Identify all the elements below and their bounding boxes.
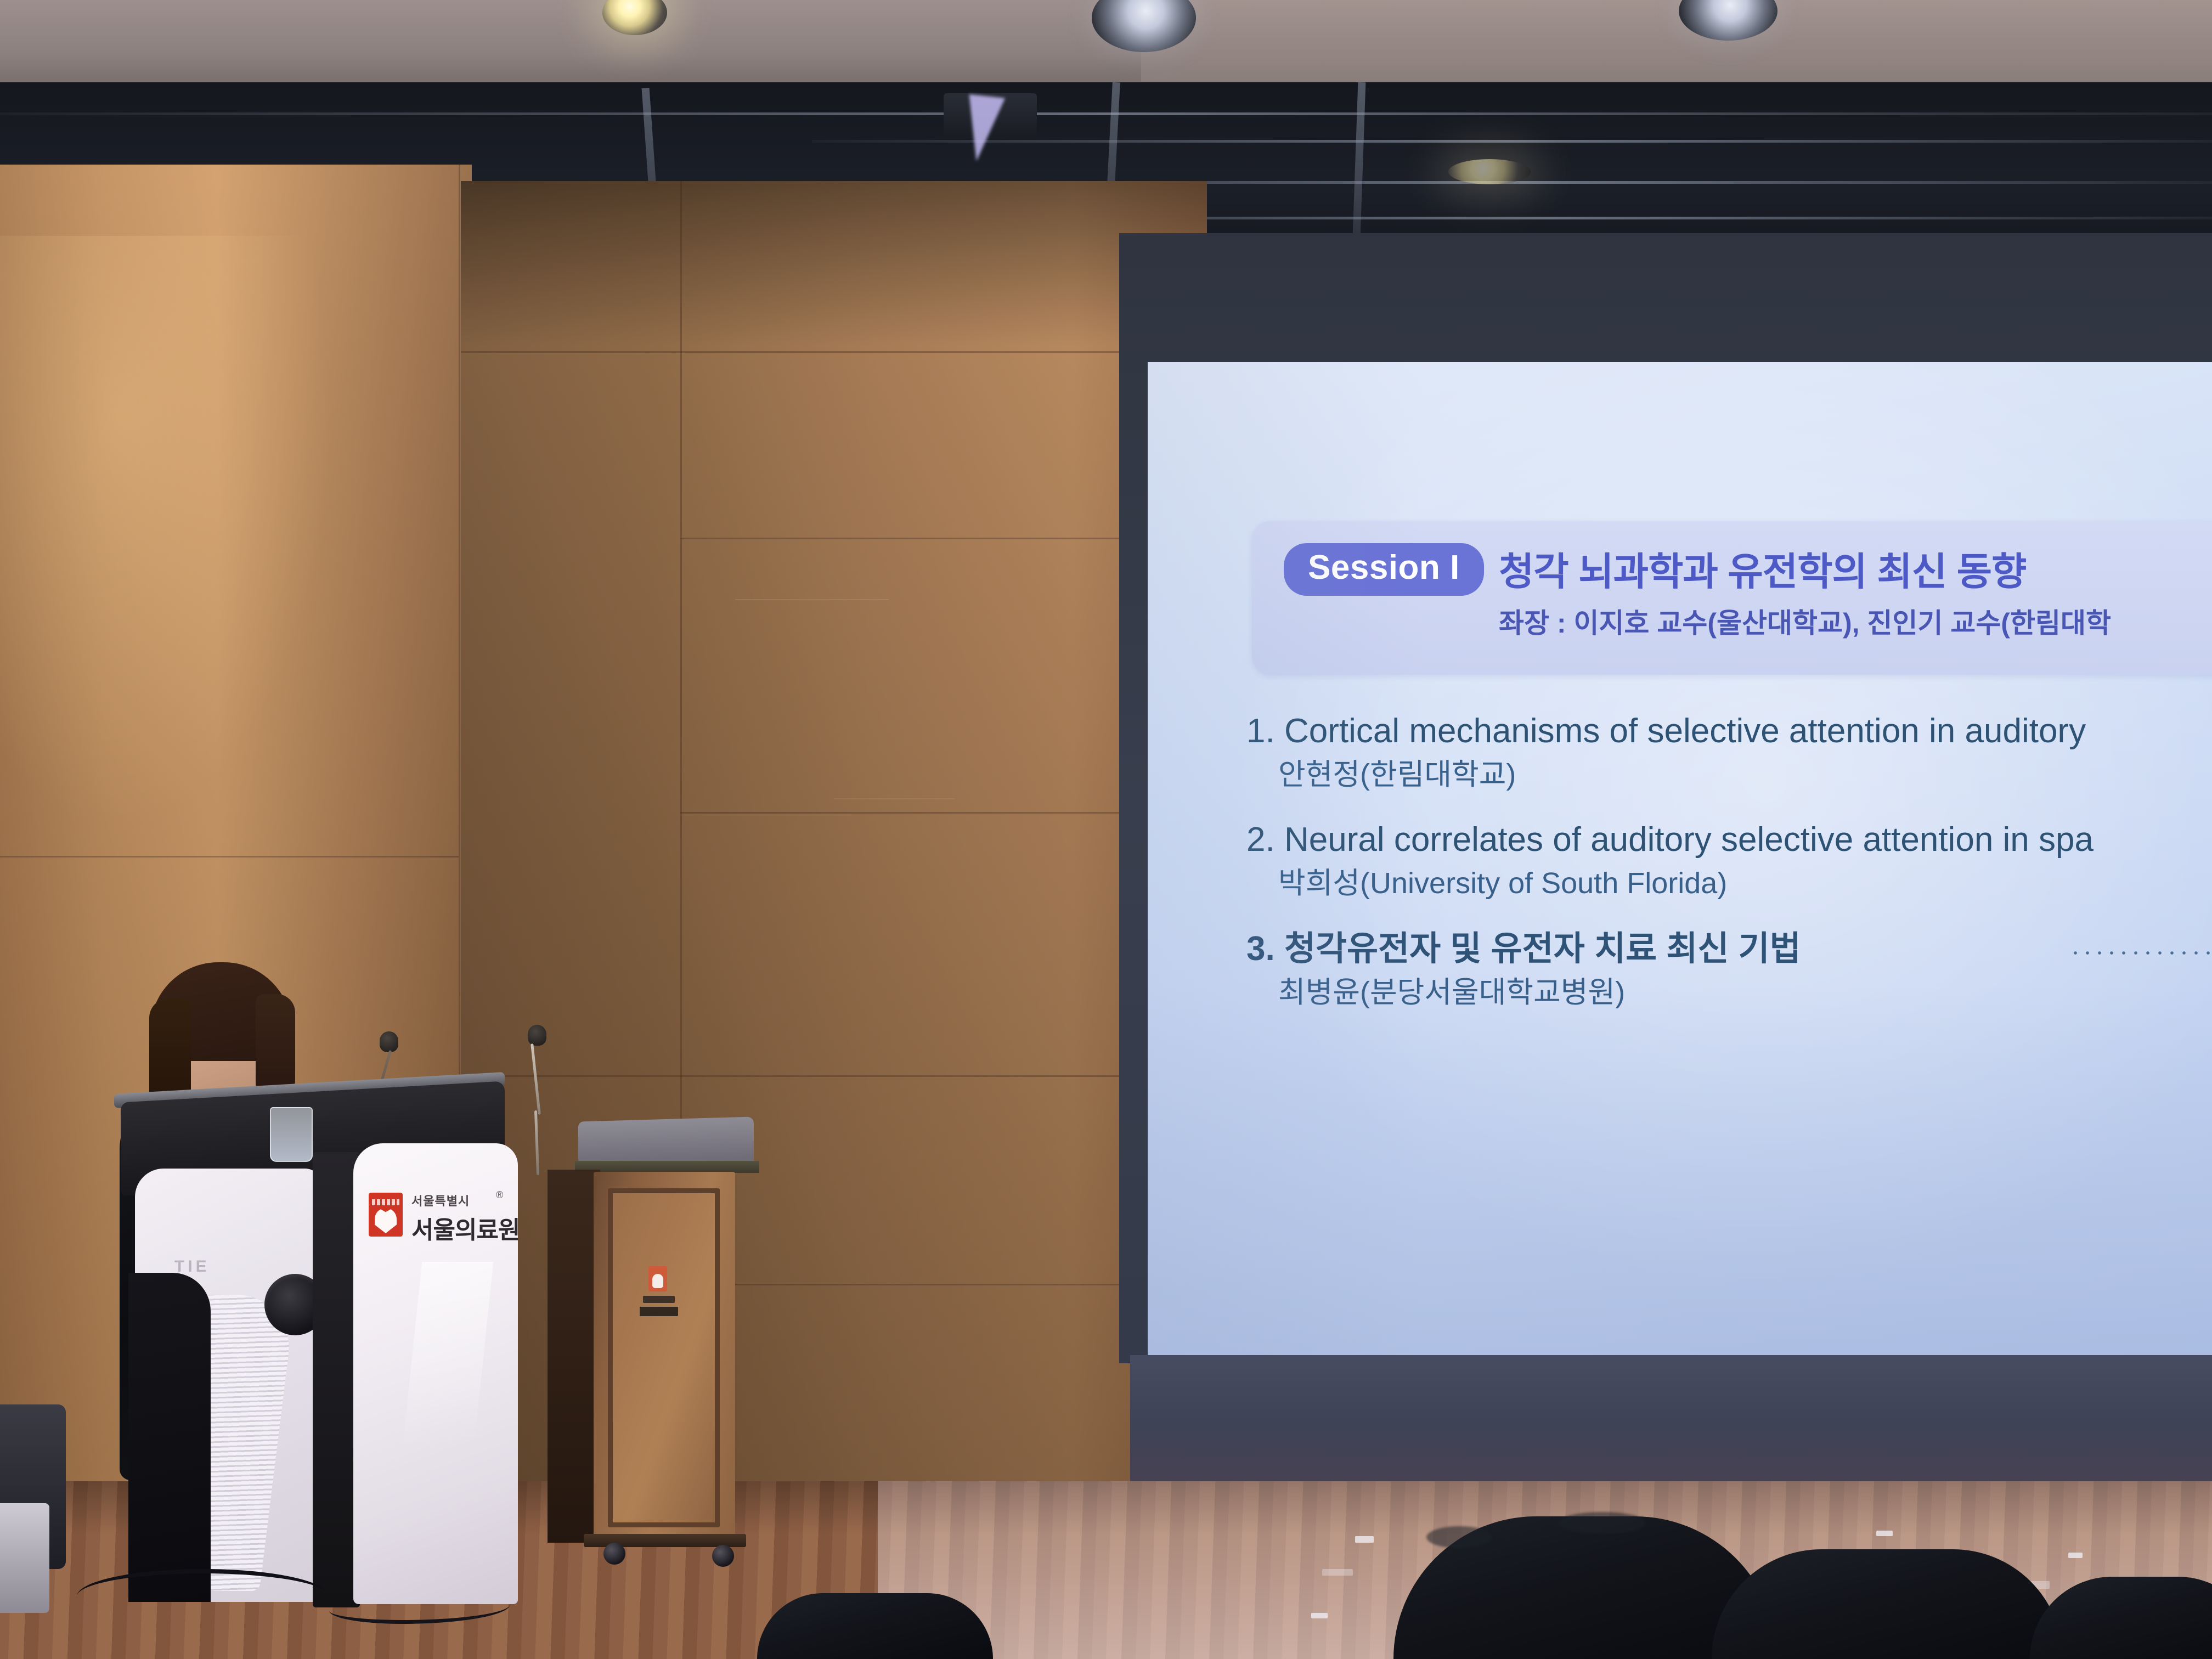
talk-speaker: 안현정(한림대학교) [1278,759,2212,791]
talk-list: 1. Cortical mechanisms of selective atte… [1246,713,2212,1040]
lectern-logo-icon [648,1266,667,1291]
session-badge: Session I [1284,543,1484,596]
talk-item: 1. Cortical mechanisms of selective atte… [1246,713,2212,791]
lectern-side-shadow [548,1170,600,1543]
lectern-logo-text-line [640,1307,678,1316]
floor-reflection [1355,1536,1374,1543]
talk-number: 1. [1246,712,1275,750]
lectern-caster-wheel [712,1545,734,1567]
wall-panel-seam [461,351,1207,353]
white-podium: TIE 서울특별시 ® 서울의료원 [165,1158,516,1607]
logo-name: 서울의료원 [411,1210,520,1245]
session-title: 청각 뇌과학과 유전학의 최신 동향 [1499,541,2026,596]
photo-scene: Session I 청각 뇌과학과 유전학의 최신 동향 좌장 : 이지호 교수… [0,0,2212,1659]
talk-number: 3. [1246,930,1275,968]
logo-shield-icon [369,1193,403,1237]
lectern-front-panel [608,1188,720,1527]
logo-trademark: ® [496,1189,503,1201]
microphone-head-icon [528,1025,546,1046]
talk-title-text: Neural correlates of auditory selective … [1284,821,2093,859]
logo-mark-text [372,1199,399,1205]
lectern-caster-wheel [603,1543,625,1565]
podium-side-label: TIE [174,1257,210,1276]
water-glass [270,1107,313,1162]
truss-beam-horizontal [812,140,2212,143]
talk-item: 3. 청각유전자 및 유전자 치료 최신 기법 최병윤(분당서울대학교병원) [1246,931,2212,1009]
truss-beam-horizontal [0,112,2212,115]
wall-highlight [735,599,889,600]
projection-screen: Session I 청각 뇌과학과 유전학의 최신 동향 좌장 : 이지호 교수… [1148,362,2212,1363]
talk-number: 2. [1246,821,1275,859]
wall-highlight [834,798,955,799]
audience-head [757,1593,993,1659]
talk-title-text: Cortical mechanisms of selective attenti… [1284,712,2086,750]
ceiling-plaster-right [1141,0,2212,82]
floor-reflection [1876,1531,1893,1536]
lectern-top-lip [575,1161,759,1173]
hair-wisp [1558,1512,1646,1534]
wall-panel-seam [0,856,459,857]
logo-subtitle: 서울특별시 [411,1192,470,1209]
hair-wisp [1426,1526,1492,1548]
talk-title-text: 청각유전자 및 유전자 치료 최신 기법 [1284,930,1801,968]
floor-reflection [1311,1613,1328,1618]
floor-reflection [1322,1569,1353,1576]
stage-equipment [0,1503,49,1613]
microphone-head-icon [380,1031,398,1052]
projector-beam [962,94,1005,163]
seoul-medical-center-logo: 서울특별시 ® 서울의료원 [369,1188,512,1250]
talk-speaker: 최병윤(분당서울대학교병원) [1278,977,2212,1009]
dotted-leader-line [2069,951,2212,955]
wall-light-glow [0,236,340,839]
audience-head [1712,1549,2063,1659]
talk-title: 3. 청각유전자 및 유전자 치료 최신 기법 [1246,931,2212,968]
session-chairs: 좌장 : 이지호 교수(울산대학교), 진인기 교수(한림대학 [1499,601,2111,641]
talk-title: 1. Cortical mechanisms of selective atte… [1246,713,2212,750]
talk-item: 2. Neural correlates of auditory selecti… [1246,822,2212,900]
talk-speaker: 박희성(University of South Florida) [1278,867,2212,900]
floor-reflection [2068,1553,2083,1558]
podium-side-notch [128,1273,211,1602]
wall-panel-seam [461,1075,1207,1077]
lectern-logo-text-line [643,1296,675,1303]
talk-title: 2. Neural correlates of auditory selecti… [1246,822,2212,859]
ceiling-downlight [1448,159,1531,184]
wall-shadow [461,181,1207,346]
wood-lectern [582,1119,763,1564]
